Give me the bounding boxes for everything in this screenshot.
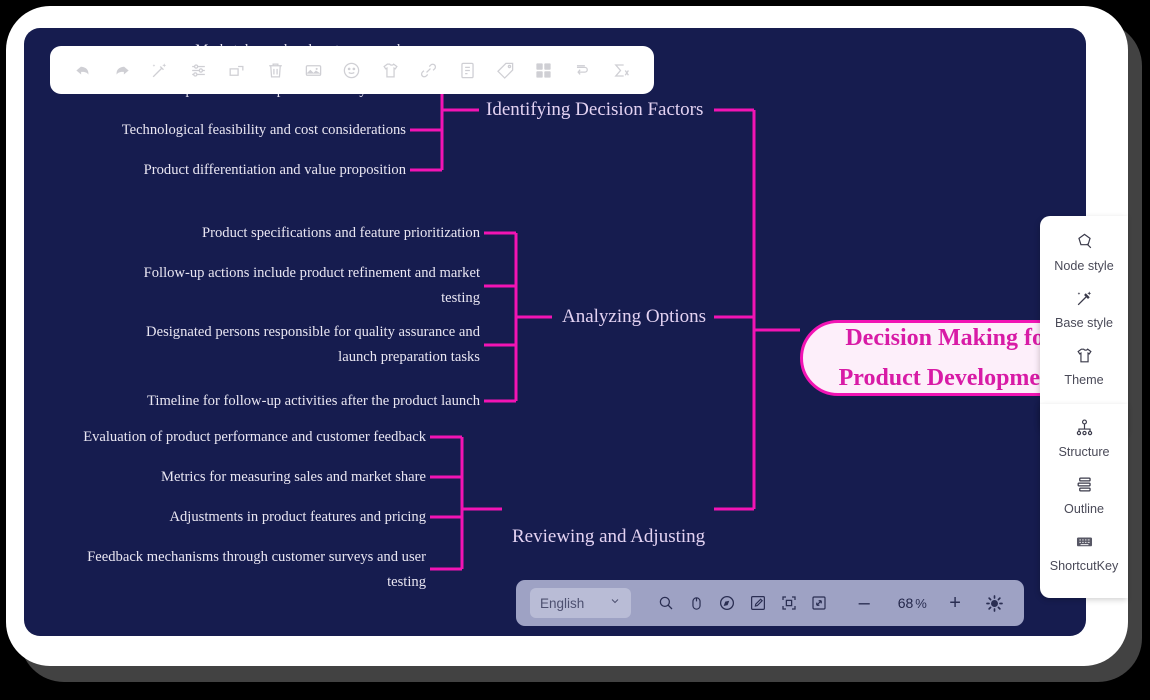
link-icon[interactable] — [417, 58, 441, 82]
style-panel-item-node-style[interactable]: Node style — [1040, 230, 1128, 273]
style-panel-label: Structure — [1058, 445, 1109, 459]
zoom-out-button[interactable]: – — [849, 588, 880, 618]
node-style-icon — [1073, 230, 1095, 252]
fit-screen-icon[interactable] — [773, 588, 804, 618]
style-panel-upper: Node style Base style Theme — [1040, 216, 1128, 432]
formula-icon[interactable] — [609, 58, 633, 82]
layout-icon[interactable] — [532, 58, 556, 82]
relation-icon[interactable] — [570, 58, 594, 82]
structure-icon — [1073, 416, 1095, 438]
theme-icon — [1073, 344, 1095, 366]
style-panel-label: Base style — [1055, 316, 1113, 330]
style-panel-lower: Structure Outline — [1040, 404, 1128, 598]
zoom-in-button[interactable]: + — [940, 588, 971, 618]
compass-icon[interactable] — [712, 588, 743, 618]
style-panel-item-outline[interactable]: Outline — [1040, 473, 1128, 516]
style-panel-item-structure[interactable]: Structure — [1040, 404, 1128, 459]
tag-icon[interactable] — [493, 58, 517, 82]
style-panel-item-base-style[interactable]: Base style — [1040, 287, 1128, 330]
style-panel-label: ShortcutKey — [1050, 559, 1119, 573]
brightness-icon[interactable] — [979, 588, 1010, 618]
folder-icon[interactable] — [225, 58, 249, 82]
language-label: English — [540, 596, 584, 611]
screen-root: Market demand and customer needs Competi… — [0, 0, 1150, 700]
trash-icon[interactable] — [263, 58, 287, 82]
style-panel-label: Theme — [1064, 373, 1103, 387]
top-toolbar — [50, 46, 654, 94]
chevron-down-icon — [609, 594, 621, 612]
style-panel-label: Outline — [1064, 502, 1104, 516]
style-panel-label: Node style — [1054, 259, 1114, 273]
note-icon[interactable] — [455, 58, 479, 82]
undo-icon[interactable] — [71, 58, 95, 82]
tshirt-icon[interactable] — [378, 58, 402, 82]
sliders-icon[interactable] — [186, 58, 210, 82]
bottom-toolbar: English — [516, 580, 1024, 626]
redo-icon[interactable] — [110, 58, 134, 82]
emoji-icon[interactable] — [340, 58, 364, 82]
base-style-icon — [1073, 287, 1095, 309]
zoom-percent-symbol: % — [915, 596, 927, 611]
magic-wand-icon[interactable] — [148, 58, 172, 82]
image-icon[interactable] — [302, 58, 326, 82]
shortcut-key-icon — [1073, 530, 1095, 552]
style-panel-item-shortcutkey[interactable]: ShortcutKey — [1040, 530, 1128, 573]
outline-icon — [1073, 473, 1095, 495]
language-selector[interactable]: English — [530, 588, 631, 618]
mouse-icon[interactable] — [681, 588, 712, 618]
zoom-level-value: 68 — [898, 595, 914, 611]
mindmap-canvas[interactable]: Market demand and customer needs Competi… — [24, 28, 1086, 636]
search-icon[interactable] — [651, 588, 682, 618]
edit-icon[interactable] — [743, 588, 774, 618]
style-panel-item-theme[interactable]: Theme — [1040, 344, 1128, 387]
expand-icon[interactable] — [804, 588, 835, 618]
